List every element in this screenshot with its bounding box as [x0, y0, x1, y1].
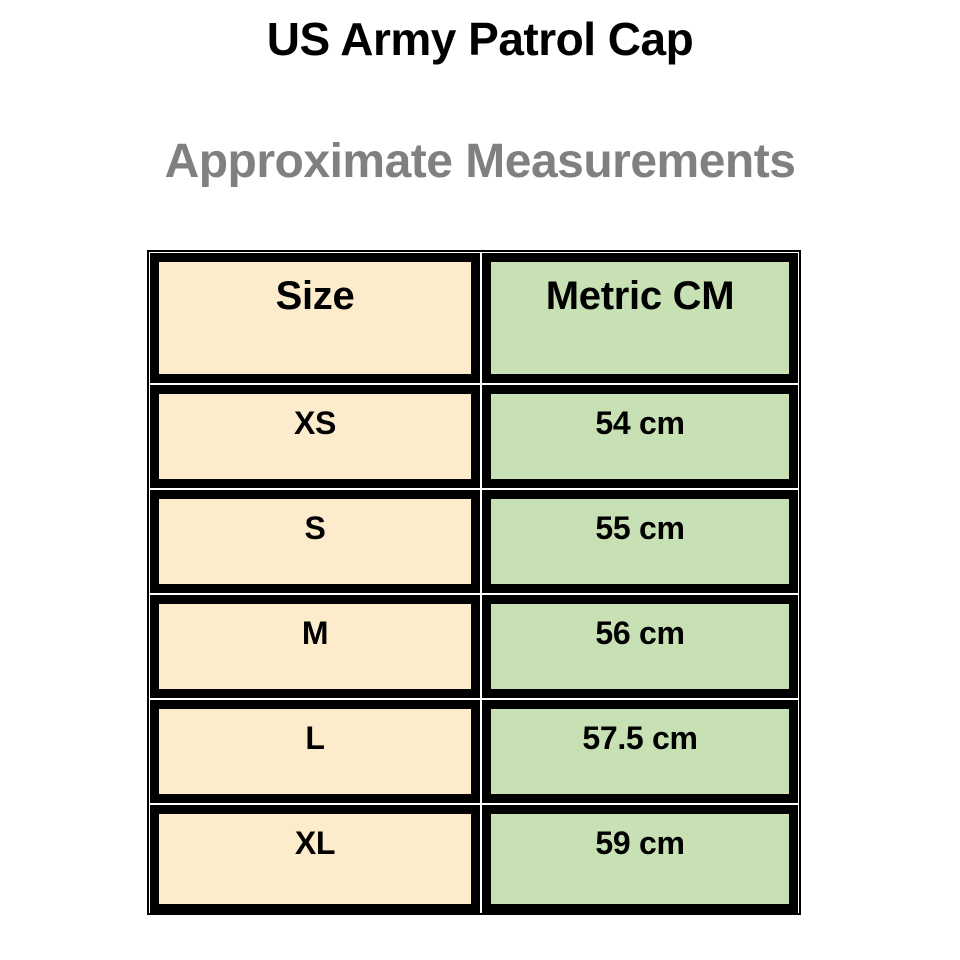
page-subtitle: Approximate Measurements: [0, 136, 960, 189]
column-header-label-size: Size: [159, 262, 471, 316]
cell-value-size: L: [159, 709, 471, 754]
cell-value-metric: 57.5 cm: [491, 709, 789, 754]
table-header-cell-size: Size: [150, 253, 480, 383]
table-cell-size: XS: [150, 385, 480, 488]
cell-value-size: S: [159, 499, 471, 544]
table-row: XS 54 cm: [150, 383, 798, 488]
table-cell-size: L: [150, 700, 480, 803]
table-cell-metric: 54 cm: [482, 385, 798, 488]
cell-value-metric: 54 cm: [491, 394, 789, 439]
table-grid: Size Metric CM XS 54 cm S 55 c: [150, 253, 798, 912]
table-cell-metric: 57.5 cm: [482, 700, 798, 803]
table-cell-size: S: [150, 490, 480, 593]
size-chart-page: US Army Patrol Cap Approximate Measureme…: [0, 0, 960, 960]
table-cell-size: M: [150, 595, 480, 698]
cell-value-metric: 55 cm: [491, 499, 789, 544]
size-chart-table: Size Metric CM XS 54 cm S 55 c: [147, 250, 801, 915]
table-cell-metric: 59 cm: [482, 805, 798, 913]
column-header-label-metric: Metric CM: [491, 262, 789, 316]
table-header-row: Size Metric CM: [150, 253, 798, 383]
table-row: XL 59 cm: [150, 803, 798, 913]
cell-value-size: M: [159, 604, 471, 649]
table-header-cell-metric: Metric CM: [482, 253, 798, 383]
cell-value-size: XS: [159, 394, 471, 439]
table-row: S 55 cm: [150, 488, 798, 593]
table-cell-metric: 56 cm: [482, 595, 798, 698]
cell-value-size: XL: [159, 814, 471, 859]
cell-value-metric: 59 cm: [491, 814, 789, 859]
table-row: M 56 cm: [150, 593, 798, 698]
page-title: US Army Patrol Cap: [0, 14, 960, 65]
table-cell-size: XL: [150, 805, 480, 913]
cell-value-metric: 56 cm: [491, 604, 789, 649]
table-cell-metric: 55 cm: [482, 490, 798, 593]
table-row: L 57.5 cm: [150, 698, 798, 803]
